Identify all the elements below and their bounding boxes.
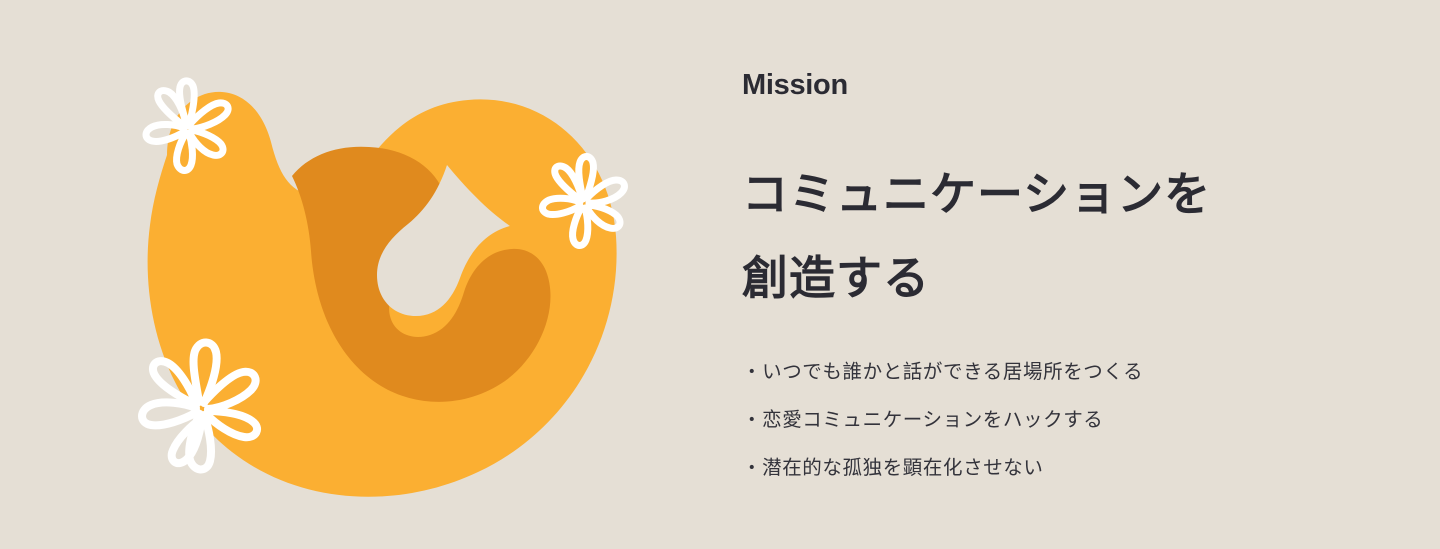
mission-text-column: Mission コミュニケーションを 創造する ・いつでも誰かと話ができる居場所… — [742, 0, 1382, 549]
page-title: コミュニケーションを 創造する — [742, 152, 1211, 320]
list-item: ・いつでも誰かと話ができる居場所をつくる — [742, 348, 1143, 396]
headline-line-2: 創造する — [742, 236, 1211, 320]
mission-section: Mission コミュニケーションを 創造する ・いつでも誰かと話ができる居場所… — [0, 0, 1440, 549]
headline-line-1: コミュニケーションを — [742, 152, 1211, 236]
mission-illustration — [0, 0, 720, 549]
list-item: ・恋愛コミュニケーションをハックする — [742, 396, 1143, 444]
list-item: ・潜在的な孤独を顕在化させない — [742, 444, 1143, 492]
orange-spiral-blob-illustration — [0, 0, 720, 549]
section-eyebrow-label: Mission — [742, 68, 848, 103]
mission-bullet-list: ・いつでも誰かと話ができる居場所をつくる ・恋愛コミュニケーションをハックする … — [742, 348, 1143, 492]
